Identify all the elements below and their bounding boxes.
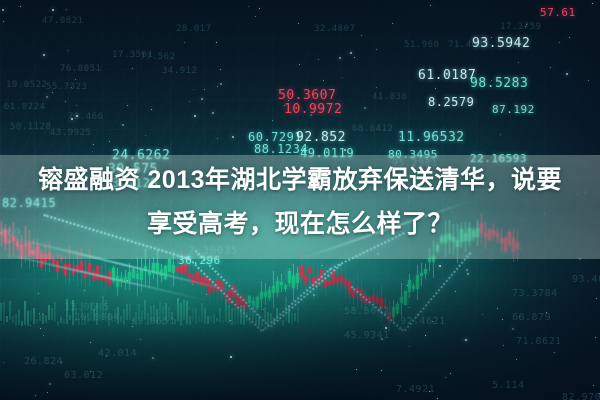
particle <box>455 101 457 103</box>
particle <box>75 79 76 80</box>
particle <box>435 88 436 89</box>
particle <box>189 308 190 309</box>
banner-image: 93.594261.018798.52838.257987.19257.6150… <box>0 0 600 400</box>
particle <box>381 370 382 371</box>
particle <box>71 118 73 120</box>
particle <box>466 269 468 271</box>
particle <box>127 105 128 106</box>
particle <box>595 337 596 338</box>
particle <box>310 114 312 116</box>
particle <box>546 312 547 313</box>
particle <box>93 144 94 145</box>
particle <box>248 6 249 7</box>
particle <box>299 64 300 65</box>
particle <box>38 293 39 294</box>
particle <box>193 89 194 90</box>
particle <box>220 69 221 70</box>
particle <box>318 59 319 60</box>
particle <box>151 109 152 110</box>
particle <box>364 107 366 109</box>
particle <box>354 57 355 58</box>
particle <box>132 68 133 69</box>
particle <box>497 308 498 309</box>
particle <box>20 6 21 7</box>
particle <box>194 115 196 117</box>
particle <box>231 302 232 303</box>
particle <box>512 328 514 330</box>
particle <box>329 104 330 105</box>
particle <box>554 352 555 353</box>
particle <box>217 138 218 139</box>
particle <box>350 52 352 54</box>
particle <box>40 328 41 329</box>
particle <box>356 369 357 370</box>
particle <box>3 362 4 363</box>
particle <box>339 57 341 59</box>
particle <box>588 80 589 81</box>
particle <box>217 86 218 87</box>
particle <box>559 42 560 43</box>
headline-line-1: 镕盛融资 2013年湖北学霸放弃保送清华，说要 <box>0 158 600 202</box>
particle <box>263 309 264 310</box>
particle <box>518 62 519 63</box>
particle <box>381 338 383 340</box>
particle <box>517 110 518 111</box>
particle <box>516 359 517 360</box>
headline-text: 镕盛融资 2013年湖北学霸放弃保送清华，说要 享受高考，现在怎么样了？ <box>0 158 600 246</box>
particle <box>39 313 40 314</box>
particle <box>526 24 527 25</box>
particle <box>184 42 185 43</box>
particle <box>132 326 133 327</box>
particle <box>491 37 492 38</box>
particle <box>145 135 146 136</box>
particle <box>432 321 433 322</box>
particle <box>519 113 520 114</box>
particle <box>168 259 169 260</box>
particle <box>313 294 315 296</box>
particle <box>500 134 501 135</box>
particle <box>409 346 410 347</box>
particle <box>216 42 217 43</box>
particle <box>90 342 91 343</box>
particle <box>385 327 387 329</box>
particle <box>47 392 48 393</box>
particle <box>272 120 273 121</box>
particle <box>67 50 68 51</box>
particle <box>49 383 51 385</box>
particle <box>592 3 593 4</box>
particle <box>35 395 36 396</box>
particle <box>52 92 53 93</box>
particle <box>569 37 570 38</box>
particle <box>2 9 4 11</box>
particle <box>122 124 124 126</box>
particle <box>550 67 551 68</box>
particle <box>430 5 431 6</box>
particle <box>566 73 568 75</box>
particle <box>30 325 31 326</box>
particle <box>109 141 110 142</box>
particle <box>201 98 203 100</box>
particle <box>230 320 231 321</box>
particle <box>392 23 393 24</box>
particle <box>212 112 214 114</box>
particle <box>46 96 48 98</box>
particle <box>259 260 260 261</box>
particle <box>230 356 232 358</box>
headline-line-2: 享受高考，现在怎么样了？ <box>0 202 600 246</box>
particle <box>304 129 305 130</box>
particle <box>444 106 445 107</box>
particle <box>140 339 141 340</box>
particle <box>232 136 234 138</box>
particle <box>65 101 66 102</box>
particle <box>455 291 456 292</box>
particle <box>52 9 54 11</box>
particle <box>259 8 260 9</box>
particle <box>491 80 492 81</box>
particle <box>400 136 401 137</box>
particle <box>43 335 44 336</box>
particle <box>127 280 128 281</box>
particle <box>467 273 469 275</box>
particle <box>407 285 408 286</box>
particle <box>298 23 299 24</box>
particle <box>288 100 289 101</box>
particle <box>439 265 441 267</box>
particle <box>323 80 324 81</box>
particle <box>284 105 285 106</box>
particle <box>342 77 343 78</box>
particle <box>255 16 256 17</box>
particle <box>71 87 72 88</box>
particle <box>344 149 346 151</box>
particle <box>43 54 45 56</box>
particle <box>593 385 594 386</box>
particle <box>445 377 446 378</box>
particle <box>61 362 62 363</box>
particle <box>425 335 426 336</box>
particle <box>376 49 377 50</box>
particle <box>106 356 107 357</box>
particle <box>92 151 93 152</box>
particle <box>450 373 451 374</box>
particle <box>204 89 205 90</box>
particle <box>525 26 526 27</box>
particle <box>76 105 77 106</box>
particle <box>66 9 67 10</box>
particle <box>322 265 323 266</box>
particle <box>503 345 504 346</box>
particle <box>519 316 520 317</box>
particle <box>152 357 154 359</box>
particle <box>192 284 193 285</box>
particle <box>409 307 410 308</box>
particle <box>220 83 222 85</box>
particle <box>376 87 377 88</box>
particle <box>465 339 467 341</box>
particle <box>361 35 362 36</box>
particle <box>437 398 438 399</box>
particle <box>482 314 483 315</box>
particle <box>417 315 418 316</box>
particle <box>3 21 4 22</box>
particle <box>596 298 597 299</box>
particle <box>429 391 430 392</box>
particle <box>189 101 190 102</box>
particle <box>206 294 207 295</box>
particle <box>380 307 381 308</box>
particle <box>84 290 85 291</box>
particle <box>502 319 503 320</box>
particle <box>76 115 78 117</box>
particle <box>90 371 91 372</box>
